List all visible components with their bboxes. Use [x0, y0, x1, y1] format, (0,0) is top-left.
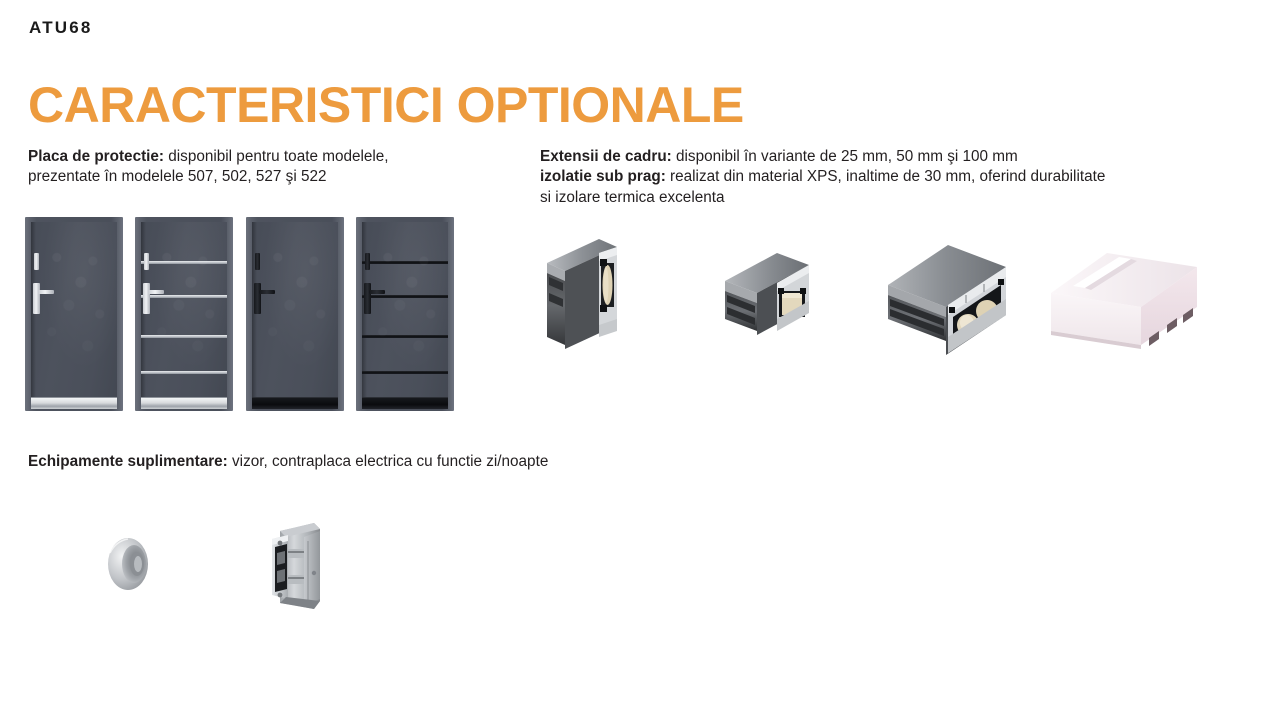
door-strip	[362, 371, 448, 374]
door-strip	[362, 295, 448, 298]
door-gallery	[25, 217, 455, 411]
spec-frame-extensions: Extensii de cadru: disponibil în variant…	[540, 147, 1260, 208]
door-strip	[141, 261, 227, 264]
door-threshold	[31, 397, 117, 409]
electric-strike-image	[258, 517, 338, 617]
door-leaf	[31, 222, 117, 399]
door-leaf	[362, 222, 448, 399]
spec-line: si izolare termica excelenta	[540, 188, 1260, 208]
door-handle-lever-icon	[38, 290, 54, 294]
door-handle-plate-icon	[143, 283, 150, 314]
spec-label: izolatie sub prag:	[540, 168, 666, 185]
door-leaf	[141, 222, 227, 399]
lock-cylinder-icon	[365, 253, 370, 270]
door-handle-plate-icon	[364, 283, 371, 314]
lock-cylinder-icon	[34, 253, 39, 270]
spec-line: izolatie sub prag: realizat din material…	[540, 167, 1260, 187]
spec-line: prezentate în modelele 507, 502, 527 şi …	[28, 167, 528, 187]
spec-extra-equipment: Echipamente suplimentare: vizor, contrap…	[28, 452, 828, 472]
spec-line: Extensii de cadru: disponibil în variant…	[540, 147, 1260, 167]
door-threshold	[141, 397, 227, 409]
door-leaf	[252, 222, 338, 399]
equipment-gallery	[90, 515, 410, 620]
door-handle-lever-icon	[148, 290, 164, 294]
frame-extension-gallery	[535, 225, 1235, 385]
spec-text: vizor, contraplaca electrica cu functie …	[228, 453, 549, 470]
door-threshold	[362, 397, 448, 409]
profile-image-50mm	[715, 245, 825, 355]
door-strip	[141, 335, 227, 338]
spec-line: Placa de protectie: disponibil pentru to…	[28, 147, 528, 167]
door-handle-lever-icon	[369, 290, 385, 294]
door-threshold	[252, 397, 338, 409]
lock-cylinder-icon	[144, 253, 149, 270]
door-handle-plate-icon	[33, 283, 40, 314]
peephole-image	[100, 533, 162, 595]
door-strip	[362, 335, 448, 338]
page-title: CARACTERISTICI OPTIONALE	[28, 78, 744, 132]
spec-line: Echipamente suplimentare: vizor, contrap…	[28, 452, 828, 472]
spec-text: disponibil pentru toate modelele,	[164, 148, 389, 165]
profile-image-xps-insulation	[1045, 245, 1205, 355]
door-handle-plate-icon	[254, 283, 261, 314]
door-strip	[141, 295, 227, 298]
profile-image-100mm	[880, 237, 1030, 362]
model-code: ATU68	[29, 18, 93, 38]
profile-image-25mm	[543, 233, 633, 363]
door-image-527	[246, 217, 344, 411]
door-strip	[141, 371, 227, 374]
door-image-522	[356, 217, 454, 411]
spec-label: Echipamente suplimentare:	[28, 453, 228, 470]
spec-label: Extensii de cadru:	[540, 148, 672, 165]
door-image-502	[135, 217, 233, 411]
spec-protection-plate: Placa de protectie: disponibil pentru to…	[28, 147, 528, 188]
spec-label: Placa de protectie:	[28, 148, 164, 165]
door-image-507	[25, 217, 123, 411]
lock-cylinder-icon	[255, 253, 260, 270]
door-strip	[362, 261, 448, 264]
spec-text: disponibil în variante de 25 mm, 50 mm ş…	[672, 148, 1018, 165]
door-handle-lever-icon	[259, 290, 275, 294]
spec-text: realizat din material XPS, inaltime de 3…	[666, 168, 1106, 185]
